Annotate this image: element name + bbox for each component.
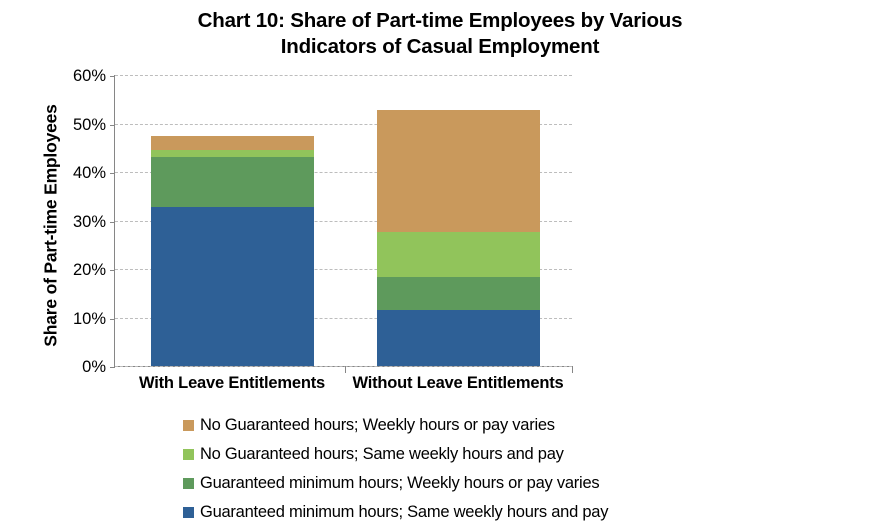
y-axis-tick-label: 0% (82, 359, 106, 376)
bar-segment[interactable] (377, 277, 540, 310)
y-axis-title: Share of Part-time Employees (41, 71, 62, 381)
x-axis-tick (345, 366, 346, 373)
y-axis-tick-label: 40% (73, 165, 106, 182)
legend-item-label: Guaranteed minimum hours; Same weekly ho… (200, 504, 608, 521)
legend-item-label: No Guaranteed hours; Same weekly hours a… (200, 446, 564, 463)
legend-item-label: Guaranteed minimum hours; Weekly hours o… (200, 475, 599, 492)
legend-item[interactable]: No Guaranteed hours; Same weekly hours a… (183, 440, 723, 469)
legend-swatch-icon (183, 420, 194, 431)
bar-segment[interactable] (377, 110, 540, 232)
legend-swatch-icon (183, 449, 194, 460)
y-axis-tick (110, 173, 115, 174)
y-axis-tick (110, 125, 115, 126)
bar-segment[interactable] (377, 310, 540, 366)
y-axis-tick (110, 270, 115, 271)
chart-title-line-2: Indicators of Casual Employment (120, 34, 760, 60)
gridline: 0% (115, 366, 572, 367)
legend-item[interactable]: Guaranteed minimum hours; Weekly hours o… (183, 469, 723, 498)
y-axis-tick-label: 30% (73, 213, 106, 230)
plot-area: 0%10%20%30%40%50%60% (115, 75, 572, 366)
bar-group[interactable] (151, 75, 314, 366)
bar-segment[interactable] (151, 150, 314, 158)
y-axis-tick-label: 10% (73, 310, 106, 327)
y-axis-tick (110, 367, 115, 368)
chart-container: Chart 10: Share of Part-time Employees b… (0, 0, 869, 532)
bar-segment[interactable] (377, 232, 540, 277)
y-axis-tick (110, 76, 115, 77)
legend-swatch-icon (183, 507, 194, 518)
legend-item-label: No Guaranteed hours; Weekly hours or pay… (200, 417, 555, 434)
bar-segment[interactable] (151, 157, 314, 206)
chart-title: Chart 10: Share of Part-time Employees b… (120, 8, 760, 60)
x-axis-tick (572, 366, 573, 373)
bar-segment[interactable] (151, 136, 314, 150)
legend-item[interactable]: No Guaranteed hours; Weekly hours or pay… (183, 411, 723, 440)
x-axis-category-label: Without Leave Entitlements (298, 374, 618, 393)
y-axis-tick (110, 319, 115, 320)
legend-item[interactable]: Guaranteed minimum hours; Same weekly ho… (183, 498, 723, 527)
bar-group[interactable] (377, 75, 540, 366)
y-axis-tick-label: 20% (73, 262, 106, 279)
y-axis-tick-label: 50% (73, 116, 106, 133)
y-axis-tick-label: 60% (73, 68, 106, 85)
chart-legend: No Guaranteed hours; Weekly hours or pay… (183, 411, 723, 527)
legend-swatch-icon (183, 478, 194, 489)
chart-title-line-1: Chart 10: Share of Part-time Employees b… (120, 8, 760, 34)
y-axis-tick (110, 222, 115, 223)
bar-segment[interactable] (151, 207, 314, 366)
